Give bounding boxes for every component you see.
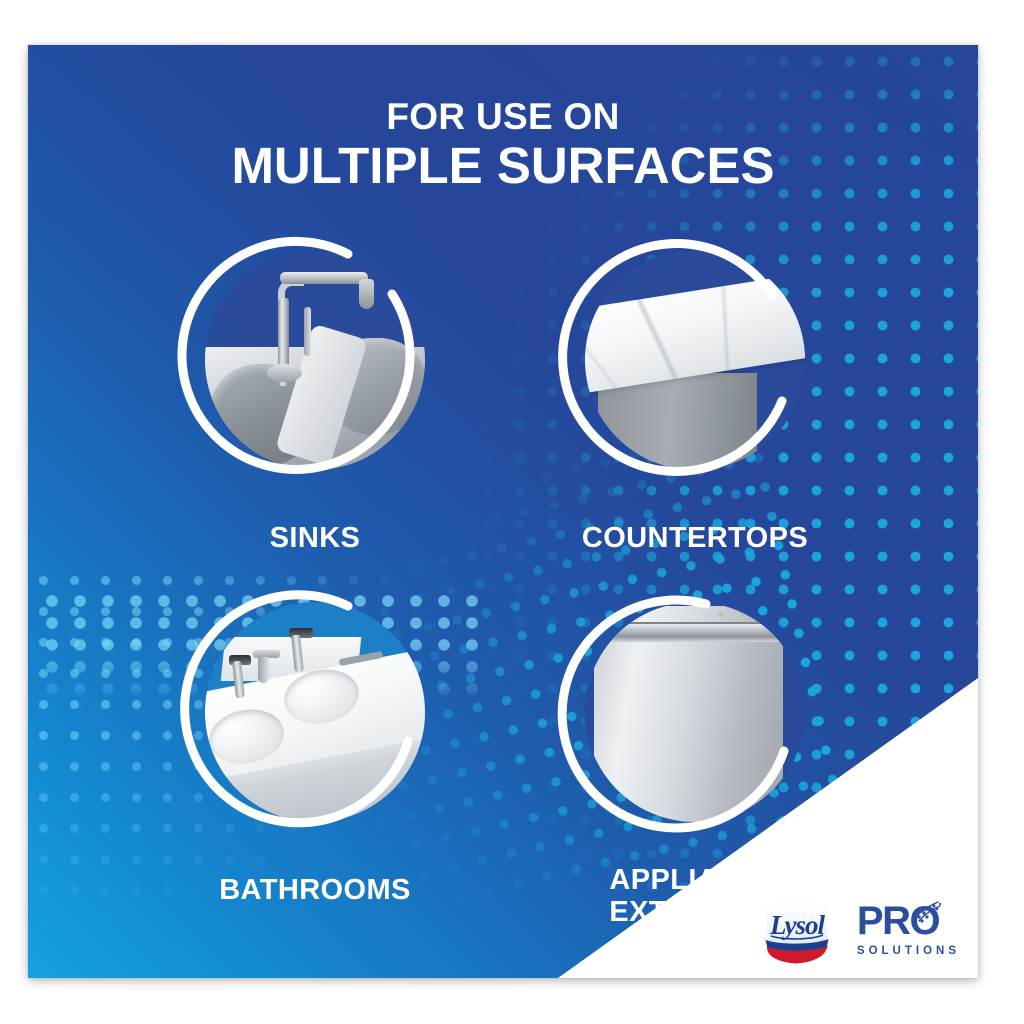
page-root: FOR USE ON MULTIPLE SURFACES [0, 0, 1024, 1024]
bathrooms-ring-arc [196, 593, 434, 831]
sinks-ring-arc [196, 241, 434, 479]
svg-text:Lysol: Lysol [769, 910, 825, 940]
solutions-subtext: SOLUTIONS [857, 946, 960, 958]
brand-logo-lockup: Lysol PRO [751, 894, 960, 964]
bathrooms-image-circle [196, 593, 434, 831]
marketing-poster: FOR USE ON MULTIPLE SURFACES [28, 45, 978, 978]
lysol-logo: Lysol [751, 894, 843, 964]
tile-label-bathrooms: BATHROOMS [174, 875, 456, 907]
appliance-image-circle [576, 593, 814, 831]
countertops-ring-arc [576, 241, 814, 479]
bubble-sparkle-icon [910, 897, 944, 931]
headline-line-1: FOR USE ON [28, 97, 978, 136]
headline-line-2: MULTIPLE SURFACES [28, 139, 978, 193]
lysol-banner-shape: Lysol [751, 894, 843, 964]
sinks-image-circle [196, 241, 434, 479]
countertops-image-circle [576, 241, 814, 479]
tile-label-sinks: SINKS [196, 523, 434, 555]
tile-label-countertops: COUNTERTOPS [546, 523, 844, 555]
pro-solutions-logo: PRO [857, 901, 960, 958]
page-title: FOR USE ON MULTIPLE SURFACES [28, 97, 978, 193]
appliance-ring-arc [576, 593, 814, 831]
